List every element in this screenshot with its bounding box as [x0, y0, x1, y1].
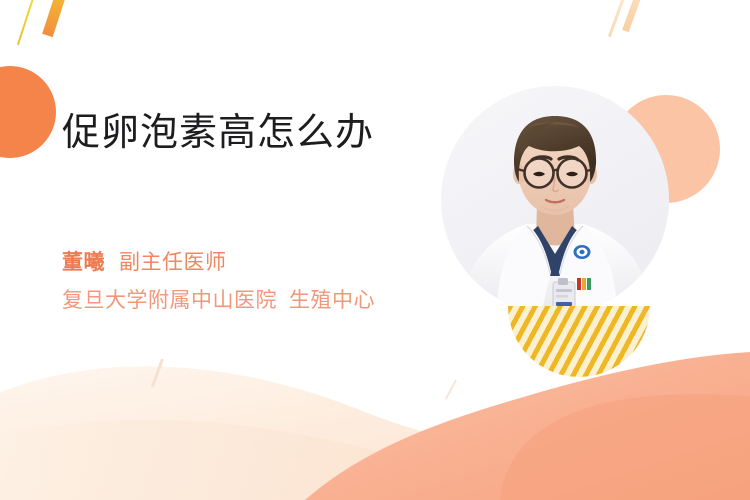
headline-block: 促卵泡素高怎么办 — [62, 110, 442, 155]
peach-thick-stripe-icon — [622, 0, 646, 32]
wave-dark — [305, 352, 750, 500]
wave-dark-accent — [500, 394, 750, 500]
doctor-name: 董曦 — [62, 250, 105, 274]
wave-light — [0, 366, 750, 500]
wave-mid — [0, 420, 750, 500]
coat-emblem-icon — [577, 278, 591, 290]
stray-stripe-icon-right — [445, 380, 457, 400]
orange-thick-stripe-icon — [42, 0, 69, 37]
hospital-badge-pin-icon — [574, 245, 591, 259]
doctor-rank: 副主任医师 — [119, 250, 227, 274]
yellow-thin-stripe-icon — [17, 0, 38, 45]
doctor-portrait-circle — [441, 86, 669, 314]
page-title: 促卵泡素高怎么办 — [62, 110, 442, 155]
orange-circle-decor — [0, 66, 56, 158]
doctor-affiliation-line: 复旦大学附属中山医院生殖中心 — [62, 286, 375, 314]
department-name: 生殖中心 — [289, 288, 375, 312]
hospital-name: 复旦大学附属中山医院 — [62, 288, 277, 312]
doctor-topic-poster: 促卵泡素高怎么办 董曦副主任医师 复旦大学附属中山医院生殖中心 — [0, 0, 750, 500]
doctor-credential-line: 董曦副主任医师 — [62, 248, 227, 276]
doctor-portrait-illustration — [441, 86, 669, 314]
stray-stripe-icon-left — [151, 358, 164, 387]
